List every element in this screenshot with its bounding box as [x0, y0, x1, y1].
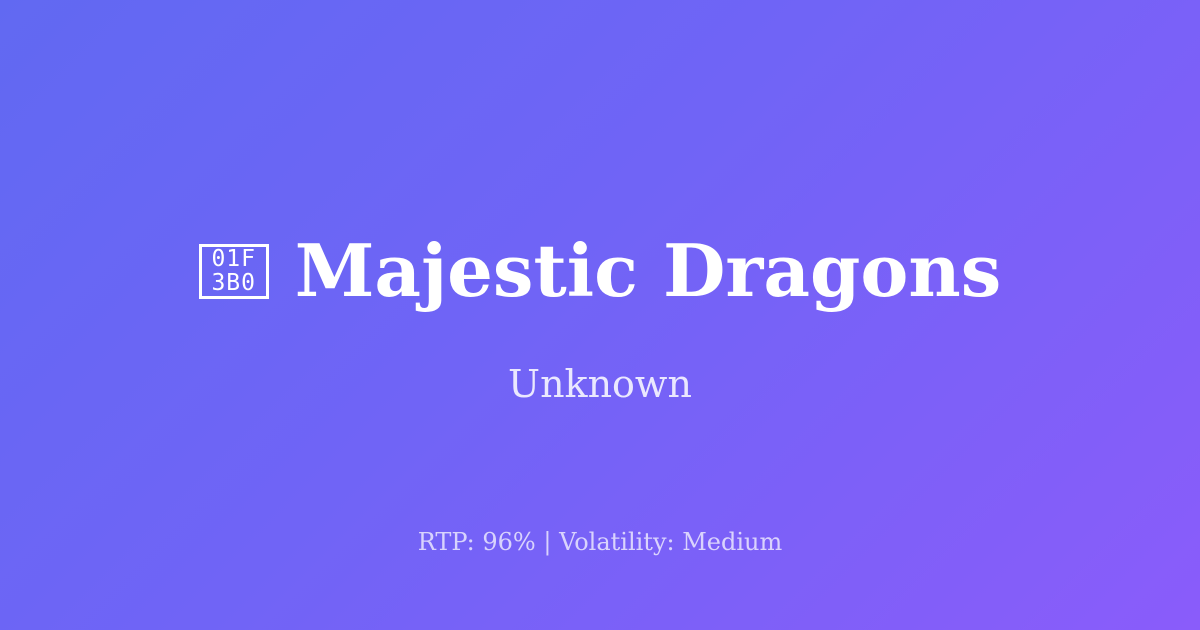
- game-provider-subtitle: Unknown: [0, 362, 1200, 408]
- title-inner: 01F 3B0 Majestic Dragons: [199, 233, 1002, 309]
- slot-machine-icon-codepoint-bottom: 3B0: [211, 271, 256, 295]
- slot-machine-icon: 01F 3B0: [199, 244, 269, 299]
- game-promo-card: 01F 3B0 Majestic Dragons Unknown RTP: 96…: [0, 0, 1200, 630]
- game-stats-line: RTP: 96% | Volatility: Medium: [0, 528, 1200, 557]
- slot-machine-icon-codepoint-top: 01F: [211, 247, 256, 271]
- game-title: Majestic Dragons: [295, 233, 1002, 309]
